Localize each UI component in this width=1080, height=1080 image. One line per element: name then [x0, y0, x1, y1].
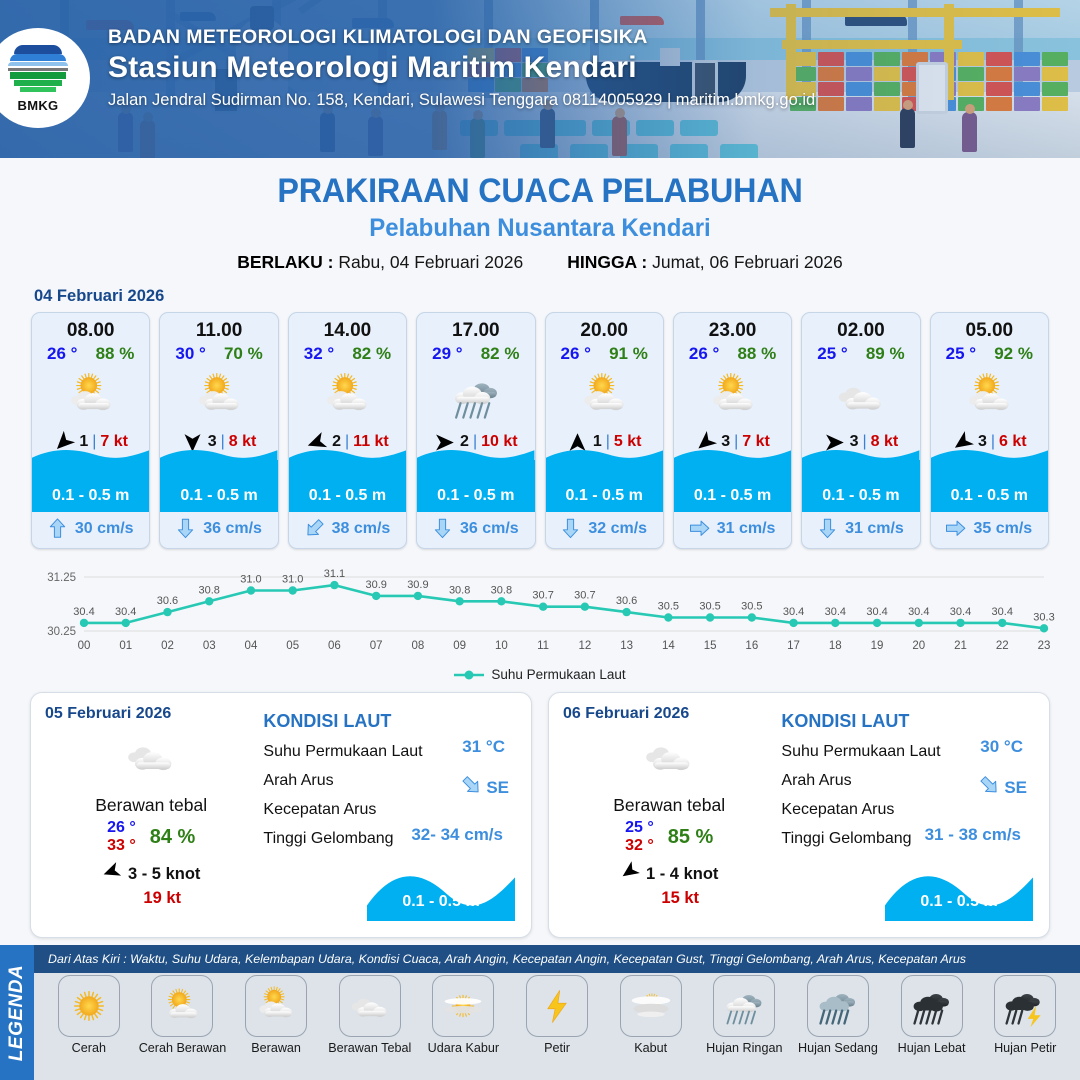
svg-text:30.4: 30.4: [783, 606, 804, 618]
svg-text:30.9: 30.9: [365, 579, 386, 591]
daily-temp-min: 25 °: [625, 819, 654, 837]
svg-text:06: 06: [328, 640, 341, 652]
sun-cloud-icon: [546, 366, 663, 428]
daily-temps: 26 ° 33 ° 84 %: [45, 819, 257, 855]
svg-text:05: 05: [286, 640, 299, 652]
daily-date: 06 Februari 2026: [563, 705, 775, 723]
legend-item-label: Hujan Sedang: [798, 1041, 878, 1055]
wave-band: 0.1 - 0.5 m: [802, 460, 919, 512]
wave-height: 0.1 - 0.5 m: [802, 487, 919, 505]
cloud-icon: [339, 975, 401, 1037]
card-temperature: 26 °: [561, 344, 591, 364]
legend-item: Cerah: [42, 975, 136, 1055]
wave-height: 0.1 - 0.5 m: [289, 487, 406, 505]
wave-height: 0.1 - 0.5 m: [931, 487, 1048, 505]
legend-item-label: Hujan Lebat: [898, 1041, 966, 1055]
card-temp-hum: 26 ° 91 %: [546, 344, 663, 366]
daily-left: 06 Februari 2026 Berawan tebal 25 ° 32 °…: [563, 705, 775, 923]
card-temp-hum: 26 ° 88 %: [32, 344, 149, 366]
card-time: 23.00: [674, 313, 791, 344]
chart-legend-marker: [454, 669, 484, 681]
svg-text:08: 08: [412, 640, 425, 652]
daily-condition: Berawan tebal: [45, 795, 257, 816]
card-humidity: 82 %: [481, 344, 520, 364]
daily-wave-height: 0.1 - 0.5 m: [885, 893, 1033, 911]
wave-crest: [417, 447, 534, 462]
card-temp-hum: 30 ° 70 %: [160, 344, 277, 366]
legend-item-label: Petir: [544, 1041, 570, 1055]
legend-item-label: Kabut: [634, 1041, 667, 1055]
logo-graphic: [7, 43, 69, 97]
daily-wave-height: 0.1 - 0.5 m: [367, 893, 515, 911]
sea-row-curspeed-label: Kecepatan Arus: [263, 801, 517, 819]
svg-text:31.0: 31.0: [282, 574, 303, 586]
daily-wind-speed: 3 - 5 knot: [128, 865, 200, 884]
cloud-icon: [563, 725, 775, 789]
legend-item: Hujan Lebat: [885, 975, 979, 1055]
sun-cloud-icon: [32, 366, 149, 428]
berlaku-label: BERLAKU :: [237, 252, 333, 272]
card-humidity: 89 %: [866, 344, 905, 364]
svg-text:31.25: 31.25: [47, 572, 76, 584]
card-temp-hum: 25 ° 92 %: [931, 344, 1048, 366]
current-direction-arrow-icon: [462, 775, 481, 801]
page-header: BMKG BADAN METEOROLOGI KLIMATOLOGI DAN G…: [0, 0, 1080, 158]
card-current-row: 31 cm/s: [674, 512, 791, 548]
current-direction-arrow-icon: [690, 518, 710, 540]
svg-text:30.4: 30.4: [950, 606, 971, 618]
svg-text:07: 07: [370, 640, 383, 652]
heavy-rain-icon: [901, 975, 963, 1037]
wave-height: 0.1 - 0.5 m: [32, 487, 149, 505]
wave-band: 0.1 - 0.5 m: [546, 460, 663, 512]
svg-text:30.8: 30.8: [491, 584, 512, 596]
current-direction-arrow-icon: [176, 518, 196, 540]
card-time: 17.00: [417, 313, 534, 344]
daily-forecast-row: 05 Februari 2026 Berawan tebal 26 ° 33 °…: [0, 682, 1080, 938]
legend-item: Berawan Tebal: [323, 975, 417, 1055]
daily-wind-speed: 1 - 4 knot: [646, 865, 718, 884]
sst-chart-svg: 31.2530.2530.40030.40130.60230.80331.004…: [22, 563, 1058, 663]
current-direction-arrow-icon: [48, 518, 68, 540]
daily-humidity: 84 %: [150, 826, 196, 849]
hourly-card[interactable]: 02.00 25 ° 89 % 3 | 8 kt 0.1 - 0.5 m 31 …: [801, 312, 920, 549]
svg-text:30.8: 30.8: [199, 584, 220, 596]
legend-footer: LEGENDA Dari Atas Kiri : Waktu, Suhu Uda…: [0, 945, 1080, 1080]
wave-band: 0.1 - 0.5 m: [931, 460, 1048, 512]
fog-icon: [620, 975, 682, 1037]
svg-text:30.4: 30.4: [115, 606, 136, 618]
svg-text:30.5: 30.5: [741, 601, 762, 613]
svg-text:22: 22: [996, 640, 1009, 652]
wave-height: 0.1 - 0.5 m: [417, 487, 534, 505]
wave-crest: [160, 447, 277, 462]
card-humidity: 88 %: [737, 344, 776, 364]
svg-text:01: 01: [119, 640, 132, 652]
svg-text:30.25: 30.25: [47, 626, 76, 638]
svg-text:30.4: 30.4: [73, 606, 94, 618]
wave-band: 0.1 - 0.5 m: [289, 460, 406, 512]
current-direction-arrow-icon: [305, 518, 325, 540]
svg-text:20: 20: [912, 640, 925, 652]
svg-text:19: 19: [871, 640, 884, 652]
station-name: Stasiun Meteorologi Maritim Kendari: [108, 51, 815, 85]
daily-forecast-card[interactable]: 05 Februari 2026 Berawan tebal 26 ° 33 °…: [30, 692, 532, 938]
wave-crest: [931, 447, 1048, 462]
daily-sea-conditions: KONDISI LAUT Suhu Permukaan Laut Arah Ar…: [257, 705, 517, 923]
card-current-row: 36 cm/s: [417, 512, 534, 548]
svg-text:31.1: 31.1: [324, 568, 345, 580]
light-rain-icon: [713, 975, 775, 1037]
card-humidity: 88 %: [96, 344, 135, 364]
hourly-card[interactable]: 05.00 25 ° 92 % 3 | 6 kt 0.1 - 0.5 m 35 …: [930, 312, 1049, 549]
svg-text:30.4: 30.4: [992, 606, 1013, 618]
svg-text:04: 04: [245, 640, 258, 652]
sun-cloud-icon: [245, 975, 307, 1037]
sun-cloud-icon: [931, 366, 1048, 428]
current-speed: 31 cm/s: [845, 520, 904, 538]
legend-item: Udara Kabur: [417, 975, 511, 1055]
svg-text:23: 23: [1038, 640, 1051, 652]
hourly-card[interactable]: 11.00 30 ° 70 % 3 | 8 kt 0.1 - 0.5 m 36 …: [159, 312, 278, 549]
wave-crest: [802, 447, 919, 462]
daily-temp-min: 26 °: [107, 819, 136, 837]
current-direction-text: SE: [486, 778, 509, 798]
wave-crest: [674, 447, 791, 462]
svg-text:14: 14: [662, 640, 675, 652]
sun-cloud-icon: [160, 366, 277, 428]
sea-value-current-direction: SE: [980, 775, 1027, 801]
hingga-value: Jumat, 06 Februari 2026: [652, 252, 843, 272]
current-speed: 30 cm/s: [75, 520, 134, 538]
svg-text:16: 16: [745, 640, 758, 652]
current-speed: 36 cm/s: [460, 520, 519, 538]
svg-text:30.3: 30.3: [1033, 611, 1054, 623]
card-time: 02.00: [802, 313, 919, 344]
legend-item: Berawan: [229, 975, 323, 1055]
legend-item: Kabut: [604, 975, 698, 1055]
svg-text:09: 09: [453, 640, 466, 652]
wave-crest: [289, 447, 406, 462]
card-temperature: 25 °: [817, 344, 847, 364]
moderate-rain-icon: [807, 975, 869, 1037]
legend-item: Petir: [510, 975, 604, 1055]
legend-item-label: Hujan Petir: [994, 1041, 1056, 1055]
card-current-row: 30 cm/s: [32, 512, 149, 548]
berlaku-value: Rabu, 04 Februari 2026: [338, 252, 523, 272]
card-current-row: 31 cm/s: [802, 512, 919, 548]
daily-condition: Berawan tebal: [563, 795, 775, 816]
card-time: 14.00: [289, 313, 406, 344]
svg-text:15: 15: [704, 640, 717, 652]
daily-left: 05 Februari 2026 Berawan tebal 26 ° 33 °…: [45, 705, 257, 923]
svg-text:10: 10: [495, 640, 508, 652]
hourly-date-label: 04 Februari 2026: [34, 287, 1080, 306]
current-speed: 35 cm/s: [973, 520, 1032, 538]
legend-item-label: Cerah Berawan: [139, 1041, 227, 1055]
thunderstorm-icon: [994, 975, 1056, 1037]
wave-height: 0.1 - 0.5 m: [674, 487, 791, 505]
daily-temp-range: 26 ° 33 °: [107, 819, 136, 855]
lightning-icon: [526, 975, 588, 1037]
sea-condition-title: KONDISI LAUT: [263, 711, 517, 732]
svg-text:21: 21: [954, 640, 967, 652]
card-time: 05.00: [931, 313, 1048, 344]
svg-text:30.9: 30.9: [407, 579, 428, 591]
sst-chart: 31.2530.2530.40030.40130.60230.80331.004…: [22, 563, 1058, 663]
daily-gust: 15 kt: [563, 889, 775, 908]
card-temperature: 32 °: [304, 344, 334, 364]
current-direction-arrow-icon: [946, 518, 966, 540]
sea-condition-title: KONDISI LAUT: [781, 711, 1035, 732]
card-temperature: 26 °: [689, 344, 719, 364]
svg-text:31.0: 31.0: [240, 574, 261, 586]
wave-height: 0.1 - 0.5 m: [160, 487, 277, 505]
svg-text:30.4: 30.4: [825, 606, 846, 618]
daily-forecast-card[interactable]: 06 Februari 2026 Berawan tebal 25 ° 32 °…: [548, 692, 1050, 938]
current-speed: 32 cm/s: [588, 520, 647, 538]
card-temp-hum: 29 ° 82 %: [417, 344, 534, 366]
hourly-forecast-row: 08.00 26 ° 88 % 1 | 7 kt 0.1 - 0.5 m 30 …: [0, 312, 1080, 549]
card-temperature: 26 °: [47, 344, 77, 364]
card-humidity: 91 %: [609, 344, 648, 364]
sea-row-curspeed-label: Kecepatan Arus: [781, 801, 1035, 819]
card-temp-hum: 26 ° 88 %: [674, 344, 791, 366]
hourly-card[interactable]: 20.00 26 ° 91 % 1 | 5 kt 0.1 - 0.5 m 32 …: [545, 312, 664, 549]
sun-cloud-small-icon: [151, 975, 213, 1037]
legend-item-label: Cerah: [72, 1041, 106, 1055]
daily-sea-conditions: KONDISI LAUT Suhu Permukaan Laut Arah Ar…: [775, 705, 1035, 923]
legend-side-label: LEGENDA: [6, 964, 28, 1060]
cloud-icon: [45, 725, 257, 789]
card-time: 11.00: [160, 313, 277, 344]
daily-gust: 19 kt: [45, 889, 257, 908]
card-humidity: 82 %: [352, 344, 391, 364]
daily-date: 05 Februari 2026: [45, 705, 257, 723]
hourly-card[interactable]: 23.00 26 ° 88 % 3 | 7 kt 0.1 - 0.5 m 31 …: [673, 312, 792, 549]
legend-item-label: Udara Kabur: [428, 1041, 499, 1055]
daily-wind-row: 1 - 4 knot: [563, 862, 775, 886]
page-subtitle: Pelabuhan Nusantara Kendari: [22, 214, 1059, 243]
card-time: 08.00: [32, 313, 149, 344]
svg-text:30.6: 30.6: [616, 595, 637, 607]
card-temperature: 30 °: [175, 344, 205, 364]
station-address: Jalan Jendral Sudirman No. 158, Kendari,…: [108, 91, 815, 110]
current-direction-arrow-icon: [561, 518, 581, 540]
legend-item-label: Hujan Ringan: [706, 1041, 782, 1055]
current-direction-arrow-icon: [818, 518, 838, 540]
daily-wind-row: 3 - 5 knot: [45, 862, 257, 886]
wind-direction-arrow-icon: [102, 862, 121, 886]
hourly-card[interactable]: 14.00 32 ° 82 % 2 | 11 kt 0.1 - 0.5 m 38…: [288, 312, 407, 549]
wave-band: 0.1 - 0.5 m: [417, 460, 534, 512]
legend-item: Hujan Sedang: [791, 975, 885, 1055]
title-block: PRAKIRAAN CUACA PELABUHAN Pelabuhan Nusa…: [0, 158, 1080, 273]
card-humidity: 70 %: [224, 344, 263, 364]
rain-icon: [417, 366, 534, 428]
svg-text:30.8: 30.8: [449, 584, 470, 596]
chart-legend-label: Suhu Permukaan Laut: [491, 667, 625, 682]
sea-value-current-direction: SE: [462, 775, 509, 801]
svg-text:00: 00: [78, 640, 91, 652]
daily-temp-max: 33 °: [107, 837, 136, 855]
sea-value-current-speed: 32- 34 cm/s: [411, 825, 503, 845]
card-temperature: 29 °: [432, 344, 462, 364]
card-humidity: 92 %: [994, 344, 1033, 364]
card-temp-hum: 25 ° 89 %: [802, 344, 919, 366]
chart-legend: Suhu Permukaan Laut: [0, 667, 1080, 682]
berlaku-group: BERLAKU : Rabu, 04 Februari 2026: [237, 252, 523, 273]
hingga-label: HINGGA :: [567, 252, 647, 272]
legend-item: Hujan Ringan: [697, 975, 791, 1055]
daily-humidity: 85 %: [668, 826, 714, 849]
cloud-icon: [802, 366, 919, 428]
legend-item: Hujan Petir: [978, 975, 1072, 1055]
svg-text:30.4: 30.4: [866, 606, 887, 618]
svg-text:30.5: 30.5: [658, 601, 679, 613]
wave-band: 0.1 - 0.5 m: [674, 460, 791, 512]
current-speed: 38 cm/s: [332, 520, 391, 538]
current-direction-arrow-icon: [433, 518, 453, 540]
wave-crest: [546, 447, 663, 462]
agency-name: BADAN METEOROLOGI KLIMATOLOGI DAN GEOFIS…: [108, 26, 815, 49]
sea-value-sst: 30 °C: [980, 737, 1023, 757]
page-title: PRAKIRAAN CUACA PELABUHAN: [27, 172, 1053, 211]
svg-text:11: 11: [537, 640, 549, 652]
sun-cloud-icon: [674, 366, 791, 428]
card-temperature: 25 °: [946, 344, 976, 364]
legend-items: Cerah Cerah Berawan Berawan Berawan Teba…: [34, 975, 1080, 1055]
legend-note: Dari Atas Kiri : Waktu, Suhu Udara, Kele…: [34, 945, 1080, 973]
legend-item-label: Berawan Tebal: [328, 1041, 411, 1055]
daily-temp-max: 32 °: [625, 837, 654, 855]
sun-icon: [58, 975, 120, 1037]
svg-text:17: 17: [787, 640, 800, 652]
card-temp-hum: 32 ° 82 %: [289, 344, 406, 366]
legend-item-label: Berawan: [251, 1041, 301, 1055]
hourly-card[interactable]: 17.00 29 ° 82 % 2 | 10 kt 0.1 - 0.5 m 36…: [416, 312, 535, 549]
logo-label: BMKG: [18, 98, 59, 113]
current-direction-arrow-icon: [980, 775, 999, 801]
svg-text:30.7: 30.7: [532, 590, 553, 602]
daily-temp-range: 25 ° 32 °: [625, 819, 654, 855]
legend-side-banner: LEGENDA: [0, 945, 34, 1080]
card-current-row: 32 cm/s: [546, 512, 663, 548]
current-speed: 36 cm/s: [203, 520, 262, 538]
sun-cloud-icon: [289, 366, 406, 428]
haze-icon: [432, 975, 494, 1037]
wind-direction-arrow-icon: [620, 862, 639, 886]
card-current-row: 38 cm/s: [289, 512, 406, 548]
wave-crest: [32, 447, 149, 462]
svg-text:30.7: 30.7: [574, 590, 595, 602]
legend-item: Cerah Berawan: [136, 975, 230, 1055]
svg-text:12: 12: [578, 640, 591, 652]
card-time: 20.00: [546, 313, 663, 344]
daily-temps: 25 ° 32 ° 85 %: [563, 819, 775, 855]
card-current-row: 36 cm/s: [160, 512, 277, 548]
header-text-block: BADAN METEOROLOGI KLIMATOLOGI DAN GEOFIS…: [108, 26, 815, 110]
current-speed: 31 cm/s: [717, 520, 776, 538]
svg-text:30.6: 30.6: [157, 595, 178, 607]
hingga-group: HINGGA : Jumat, 06 Februari 2026: [567, 252, 843, 273]
validity-row: BERLAKU : Rabu, 04 Februari 2026 HINGGA …: [0, 252, 1080, 273]
sea-value-sst: 31 °C: [462, 737, 505, 757]
svg-text:02: 02: [161, 640, 174, 652]
wave-band: 0.1 - 0.5 m: [32, 460, 149, 512]
svg-text:18: 18: [829, 640, 842, 652]
hourly-card[interactable]: 08.00 26 ° 88 % 1 | 7 kt 0.1 - 0.5 m 30 …: [31, 312, 150, 549]
card-current-row: 35 cm/s: [931, 512, 1048, 548]
svg-text:03: 03: [203, 640, 216, 652]
svg-text:13: 13: [620, 640, 633, 652]
current-direction-text: SE: [1004, 778, 1027, 798]
svg-text:30.4: 30.4: [908, 606, 929, 618]
svg-text:30.5: 30.5: [699, 601, 720, 613]
sea-value-current-speed: 31 - 38 cm/s: [925, 825, 1021, 845]
wave-band: 0.1 - 0.5 m: [160, 460, 277, 512]
wave-height: 0.1 - 0.5 m: [546, 487, 663, 505]
